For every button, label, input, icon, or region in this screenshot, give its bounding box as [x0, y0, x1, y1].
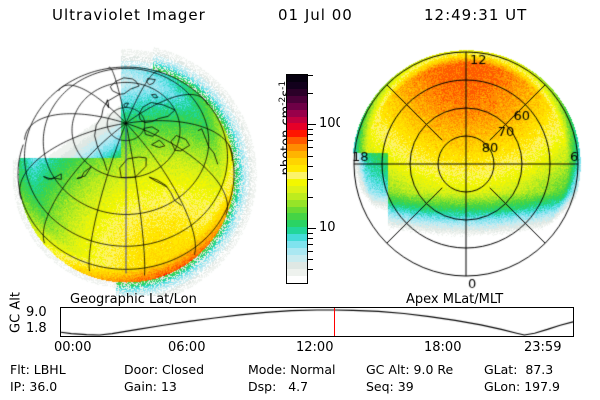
timeline-x-tick-label: 23:59 — [524, 340, 561, 355]
status-glon: GLon: 197.9 — [484, 379, 560, 394]
colorbar-band — [287, 186, 307, 193]
status-glat: GLat: 87.3 — [484, 362, 553, 377]
observation-time: 12:49:31 UT — [424, 6, 527, 24]
colorbar-minor-tick — [307, 134, 313, 135]
colorbar-band — [287, 137, 307, 144]
colorbar-band — [287, 144, 307, 151]
colorbar-minor-tick — [307, 244, 313, 245]
timeline-current-time-marker — [334, 308, 335, 336]
colorbar-band — [287, 165, 307, 172]
colorbar-minor-tick — [307, 140, 313, 141]
apex-aurora-dial[interactable] — [340, 46, 596, 298]
status-flt: Flt: LBHL — [10, 362, 66, 377]
colorbar-major-tick — [307, 124, 316, 125]
colorbar-minor-tick — [307, 251, 313, 252]
colorbar-minor-tick — [307, 129, 313, 130]
colorbar-minor-tick — [307, 147, 313, 148]
colorbar-band — [287, 200, 307, 207]
geographic-image-panel[interactable] — [8, 46, 258, 296]
colorbar-band — [287, 179, 307, 186]
instrument-title: Ultraviolet Imager — [52, 6, 206, 24]
colorbar-band — [287, 96, 307, 103]
colorbar-band — [287, 262, 307, 269]
colorbar-band — [287, 117, 307, 124]
header-bar: Ultraviolet Imager 01 Jul 00 12:49:31 UT — [0, 6, 600, 30]
timeline-x-tick-label: 12:00 — [296, 340, 333, 355]
colorbar-band — [287, 276, 307, 283]
colorbar-band — [287, 110, 307, 117]
colorbar-minor-tick — [307, 75, 313, 76]
colorbar-band — [287, 89, 307, 96]
status-seq: Seq: 39 — [366, 379, 414, 394]
timeline-x-tick-label: 06:00 — [168, 340, 205, 355]
colorbar-panel: photon cm-2s-1 10010 — [262, 60, 342, 295]
timeline-y-axis-label: GC Alt — [9, 283, 24, 343]
colorbar-band — [287, 220, 307, 227]
status-gc-alt: GC Alt: 9.0 Re — [366, 362, 453, 377]
colorbar-band — [287, 248, 307, 255]
colorbar-tick-label: 10 — [319, 221, 336, 234]
colorbar-band — [287, 207, 307, 214]
colorbar-band — [287, 151, 307, 158]
status-ip: IP: 36.0 — [10, 379, 57, 394]
colorbar-minor-tick — [307, 259, 313, 260]
colorbar-band — [287, 269, 307, 276]
colorbar-band — [287, 241, 307, 248]
colorbar-band — [287, 130, 307, 137]
colorbar-band — [287, 234, 307, 241]
geographic-panel-caption: Geographic Lat/Lon — [70, 292, 197, 307]
colorbar-band — [287, 123, 307, 130]
geographic-aurora-image[interactable] — [8, 46, 258, 296]
status-gain: Gain: 13 — [124, 379, 177, 394]
colorbar-band — [287, 213, 307, 220]
status-mode: Mode: Normal — [248, 362, 336, 377]
timeline-altitude-curve — [61, 308, 573, 336]
colorbar-band — [287, 82, 307, 89]
colorbar-minor-tick — [307, 93, 313, 94]
colorbar-minor-tick — [307, 166, 313, 167]
timeline-x-tick-label: 00:00 — [54, 340, 91, 355]
colorbar-minor-tick — [307, 156, 313, 157]
status-door: Door: Closed — [124, 362, 204, 377]
colorbar-minor-tick — [307, 233, 313, 234]
colorbar-major-tick — [307, 228, 316, 229]
timeline-plot-frame[interactable] — [60, 307, 574, 337]
colorbar-band — [287, 193, 307, 200]
colorbar-minor-tick — [307, 238, 313, 239]
apex-dial-panel[interactable] — [340, 46, 596, 298]
colorbar-band — [287, 75, 307, 82]
status-block: Flt: LBHL IP: 36.0 Door: Closed Gain: 13… — [0, 362, 600, 398]
colorbar-band — [287, 227, 307, 234]
colorbar-minor-tick — [307, 197, 313, 198]
timeline-x-tick-label: 18:00 — [424, 340, 461, 355]
colorbar-band — [287, 255, 307, 262]
colorbar-band — [287, 158, 307, 165]
colorbar-gradient-box — [286, 74, 308, 284]
observation-date: 01 Jul 00 — [278, 6, 353, 24]
colorbar-minor-tick — [307, 269, 313, 270]
apex-panel-caption: Apex MLat/MLT — [406, 292, 503, 307]
colorbar-gradient — [287, 75, 307, 283]
status-dsp: Dsp: 4.7 — [248, 379, 308, 394]
colorbar-band — [287, 103, 307, 110]
colorbar-minor-tick — [307, 179, 313, 180]
colorbar-band — [287, 172, 307, 179]
